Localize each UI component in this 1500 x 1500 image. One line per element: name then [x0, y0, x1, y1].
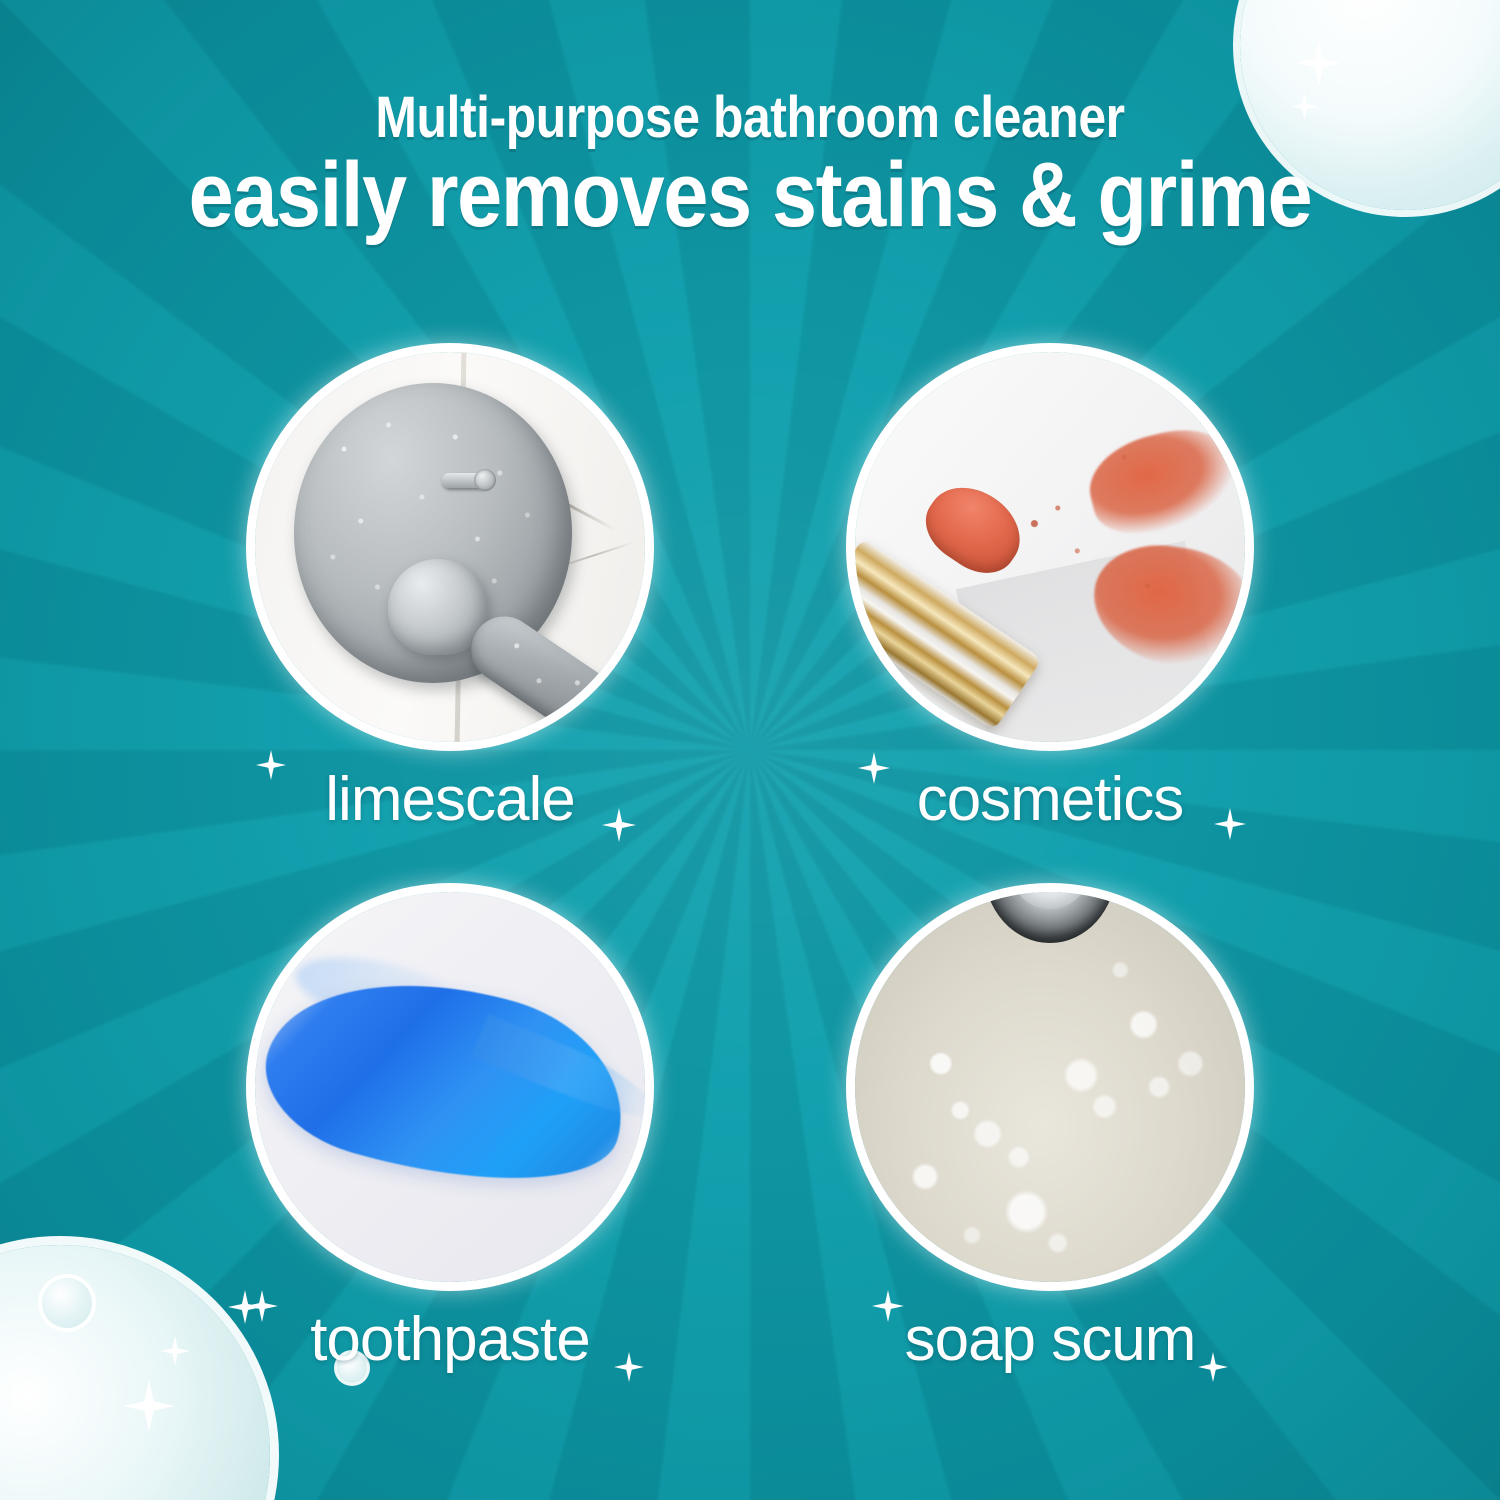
label-cosmetics-text: cosmetics	[917, 765, 1184, 834]
grid-item-cosmetics[interactable]: cosmetics	[850, 352, 1250, 835]
label-limescale: limescale	[250, 764, 650, 835]
promo-graphic: Multi-purpose bathroom cleaner easily re…	[0, 0, 1500, 1500]
powder-crumbs	[855, 352, 1245, 742]
sparkle-icon-cosmetics-left	[858, 752, 890, 784]
label-toothpaste-text: toothpaste	[310, 1305, 590, 1374]
sparkle-icon-toothpaste-right	[614, 1352, 644, 1382]
sparkle-icon-limescale-left	[256, 750, 286, 780]
label-toothpaste: toothpaste	[250, 1304, 650, 1375]
soap-scum-residue	[855, 892, 1245, 1282]
label-cosmetics: cosmetics	[850, 764, 1250, 835]
sparkle-icon-soap-scum-right	[1198, 1352, 1228, 1382]
sparkle-icon-toothpaste-left	[246, 1290, 278, 1322]
sparkle-icon-limescale-right	[602, 808, 636, 842]
headline-line-2: easily removes stains & grime	[90, 149, 1410, 241]
grid-item-toothpaste[interactable]: toothpaste	[250, 892, 650, 1375]
valve-lever-handle	[459, 603, 633, 742]
grid-item-soap-scum[interactable]: soap scum	[850, 892, 1250, 1375]
photo-toothpaste	[255, 892, 645, 1282]
photo-limescale	[255, 352, 645, 742]
grid-item-limescale[interactable]: limescale	[250, 352, 650, 835]
sparkle-icon-cosmetics-right	[1214, 808, 1246, 840]
valve-screw	[442, 473, 490, 488]
headline: Multi-purpose bathroom cleaner easily re…	[0, 88, 1500, 241]
photo-soap-scum	[855, 892, 1245, 1282]
label-soap-scum-text: soap scum	[905, 1305, 1196, 1374]
label-limescale-text: limescale	[325, 765, 574, 834]
photo-cosmetics	[855, 352, 1245, 742]
sparkle-icon-soap-scum-left	[872, 1290, 904, 1322]
label-soap-scum: soap scum	[850, 1304, 1250, 1375]
headline-line-1: Multi-purpose bathroom cleaner	[105, 88, 1395, 147]
